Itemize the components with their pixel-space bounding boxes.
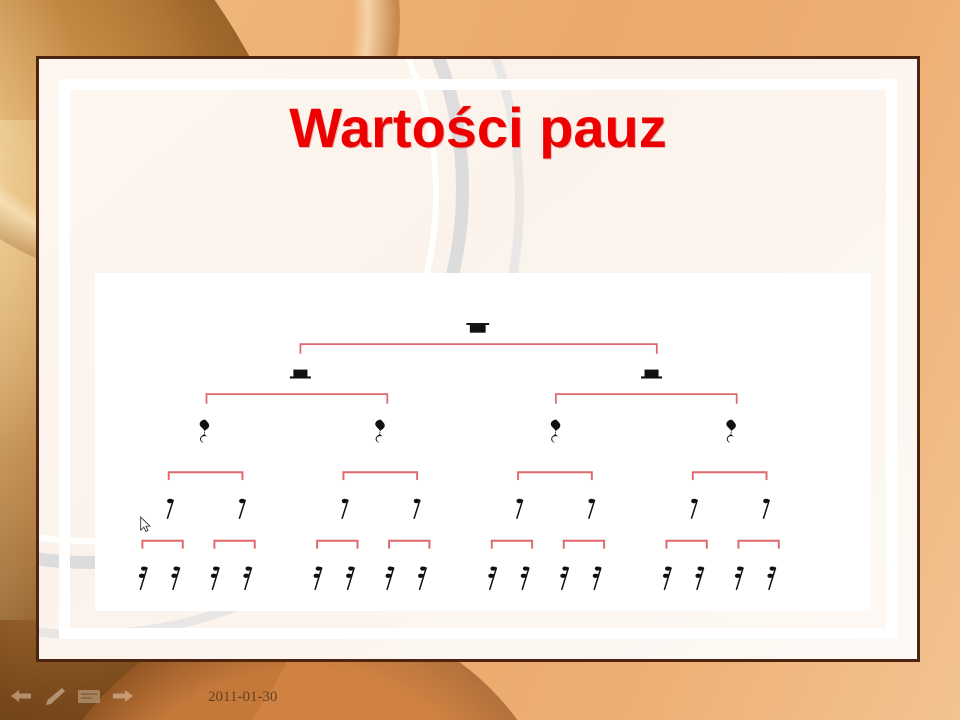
pen-tool-button[interactable]: [42, 686, 68, 706]
sixteenth-rest: [139, 566, 147, 589]
sixteenth-rest: [488, 566, 496, 589]
sixteenth-rest: [418, 566, 426, 589]
slideshow-controls: 2011-01-30: [0, 664, 960, 720]
grouping-bracket-level-4: [317, 541, 357, 549]
rest-values-diagram: [95, 273, 871, 611]
grouping-bracket-level-3: [169, 472, 243, 480]
grouping-bracket-level-3: [343, 472, 417, 480]
quarter-rest: [200, 420, 210, 443]
previous-slide-button[interactable]: [8, 686, 34, 706]
sixteenth-rest: [386, 566, 394, 589]
grouping-bracket-level-4: [666, 541, 706, 549]
presentation-viewer: Wartości pauz: [0, 0, 960, 720]
next-slide-button[interactable]: [110, 686, 136, 706]
grouping-bracket-level-4: [564, 541, 604, 549]
eighth-rest: [342, 499, 349, 519]
slide[interactable]: Wartości pauz: [36, 56, 920, 662]
sixteenth-rest: [593, 566, 601, 589]
eighth-rest: [516, 499, 523, 519]
grouping-bracket-level-4: [214, 541, 254, 549]
eighth-rest: [239, 499, 246, 519]
eighth-rest: [763, 499, 770, 519]
quarter-rest: [375, 420, 385, 443]
half-rest: [290, 370, 311, 379]
eighth-rest: [167, 499, 174, 519]
mouse-pointer: [141, 517, 150, 531]
page-title: Wartości pauz: [39, 95, 917, 160]
grouping-bracket-level-1: [300, 344, 656, 354]
grouping-bracket-level-4: [492, 541, 532, 549]
sixteenth-rest: [735, 566, 743, 589]
menu-box-icon: [77, 689, 101, 704]
sixteenth-rest: [211, 566, 219, 589]
grouping-bracket-level-4: [142, 541, 182, 549]
eighth-rest: [414, 499, 421, 519]
sixteenth-rest: [314, 566, 322, 589]
sixteenth-rest: [171, 566, 179, 589]
quarter-rest: [726, 420, 736, 443]
grouping-bracket-level-4: [389, 541, 429, 549]
eighth-rest: [691, 499, 698, 519]
grouping-bracket-level-2: [206, 394, 387, 404]
arrow-right-icon: [111, 688, 135, 704]
sixteenth-rest: [663, 566, 671, 589]
grouping-bracket-level-2: [556, 394, 737, 404]
sixteenth-rest: [521, 566, 529, 589]
whole-rest: [466, 323, 489, 333]
grouping-bracket-level-4: [738, 541, 778, 549]
sixteenth-rest: [560, 566, 568, 589]
grouping-bracket-level-3: [693, 472, 767, 480]
arrow-left-icon: [9, 688, 33, 704]
diagram-stage: [95, 273, 871, 662]
sixteenth-rest: [767, 566, 775, 589]
sixteenth-rest: [243, 566, 251, 589]
slide-date: 2011-01-30: [208, 689, 277, 706]
pen-icon: [44, 687, 66, 705]
menu-button[interactable]: [76, 686, 102, 706]
half-rest: [641, 370, 662, 379]
eighth-rest: [588, 499, 595, 519]
grouping-bracket-level-3: [518, 472, 592, 480]
quarter-rest: [551, 420, 561, 443]
sixteenth-rest: [695, 566, 703, 589]
sixteenth-rest: [346, 566, 354, 589]
